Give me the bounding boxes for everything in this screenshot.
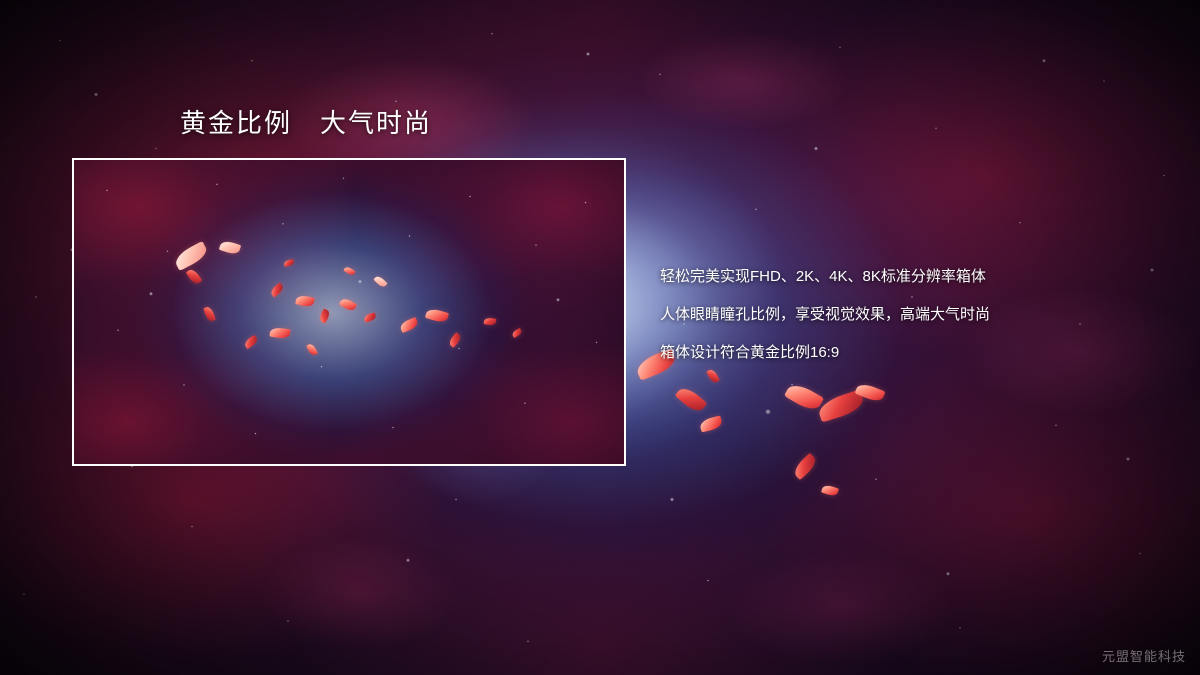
body-line-1: 轻松完美实现FHD、2K、4K、8K标准分辨率箱体 <box>660 258 1180 296</box>
nebula-preview-panel <box>72 158 626 466</box>
petal-shape <box>675 384 708 415</box>
petal-shape <box>821 484 839 498</box>
petal-shape <box>784 380 824 414</box>
panel-starfield <box>74 160 624 464</box>
body-line-2: 人体眼睛瞳孔比例，享受视觉效果，高端大气时尚 <box>660 296 1180 334</box>
page-title: 黄金比例 大气时尚 <box>180 103 432 140</box>
body-line-3: 箱体设计符合黄金比例16:9 <box>660 334 1180 372</box>
petal-shape <box>791 453 819 480</box>
petal-shape <box>699 416 723 433</box>
slide-canvas: 黄金比例 大气时尚 轻松完美实现FHD、2K、4K、8K标准分辨率箱体 人体眼睛… <box>0 0 1200 675</box>
watermark-text: 元盟智能科技 <box>1102 646 1186 665</box>
body-text-block: 轻松完美实现FHD、2K、4K、8K标准分辨率箱体 人体眼睛瞳孔比例，享受视觉效… <box>660 258 1180 372</box>
